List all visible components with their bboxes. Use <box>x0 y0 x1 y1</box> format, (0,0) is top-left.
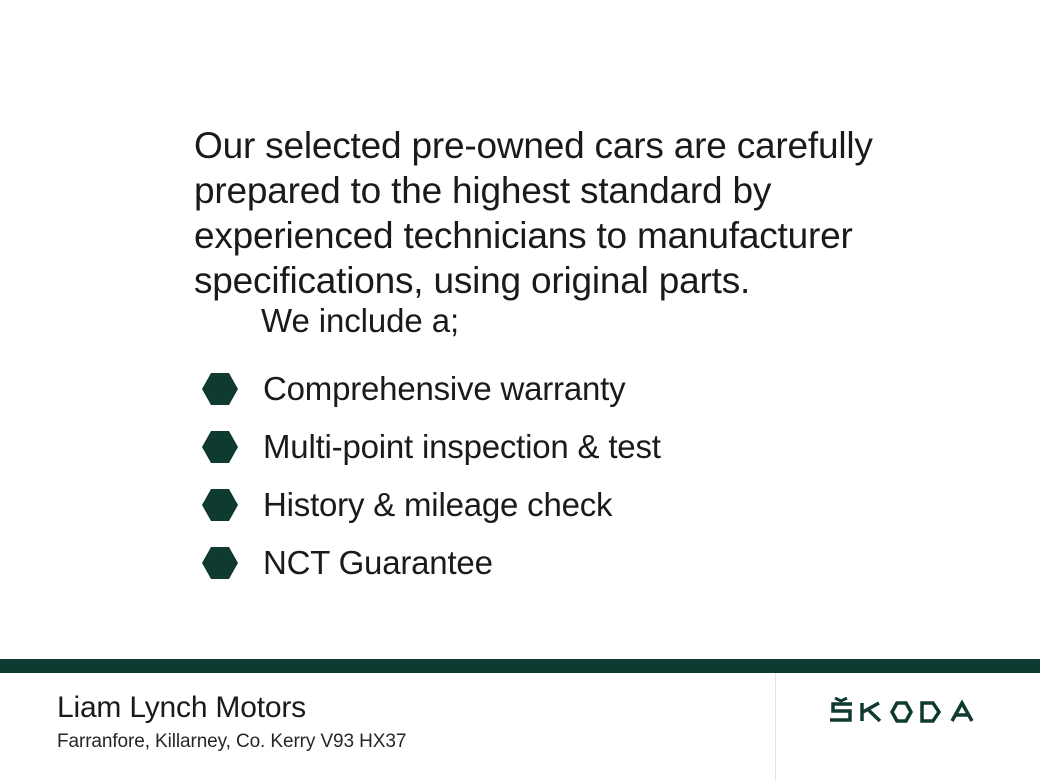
hexagon-bullet-icon <box>201 545 239 581</box>
brand-logo-area <box>775 673 1040 780</box>
dealer-address: Farranfore, Killarney, Co. Kerry V93 HX3… <box>57 730 775 754</box>
list-item: Comprehensive warranty <box>201 360 661 418</box>
list-item-label: Comprehensive warranty <box>263 369 625 409</box>
list-item-label: NCT Guarantee <box>263 543 493 583</box>
intro-paragraph: Our selected pre-owned cars are carefull… <box>194 123 884 303</box>
dealer-name: Liam Lynch Motors <box>57 690 775 726</box>
green-rule <box>0 659 1040 673</box>
hexagon-bullet-icon <box>201 429 239 465</box>
list-item: History & mileage check <box>201 476 661 534</box>
list-item-label: History & mileage check <box>263 485 612 525</box>
list-item: NCT Guarantee <box>201 534 661 592</box>
list-item: Multi-point inspection & test <box>201 418 661 476</box>
footer-bar: Liam Lynch Motors Farranfore, Killarney,… <box>0 673 1040 780</box>
include-heading: We include a; <box>261 301 459 341</box>
list-item-label: Multi-point inspection & test <box>263 427 661 467</box>
skoda-wordmark-icon <box>824 697 992 727</box>
hexagon-bullet-icon <box>201 371 239 407</box>
dealer-info: Liam Lynch Motors Farranfore, Killarney,… <box>0 673 775 780</box>
hexagon-bullet-icon <box>201 487 239 523</box>
benefits-list: Comprehensive warranty Multi-point inspe… <box>201 360 661 592</box>
slide-canvas: Our selected pre-owned cars are carefull… <box>0 0 1040 780</box>
